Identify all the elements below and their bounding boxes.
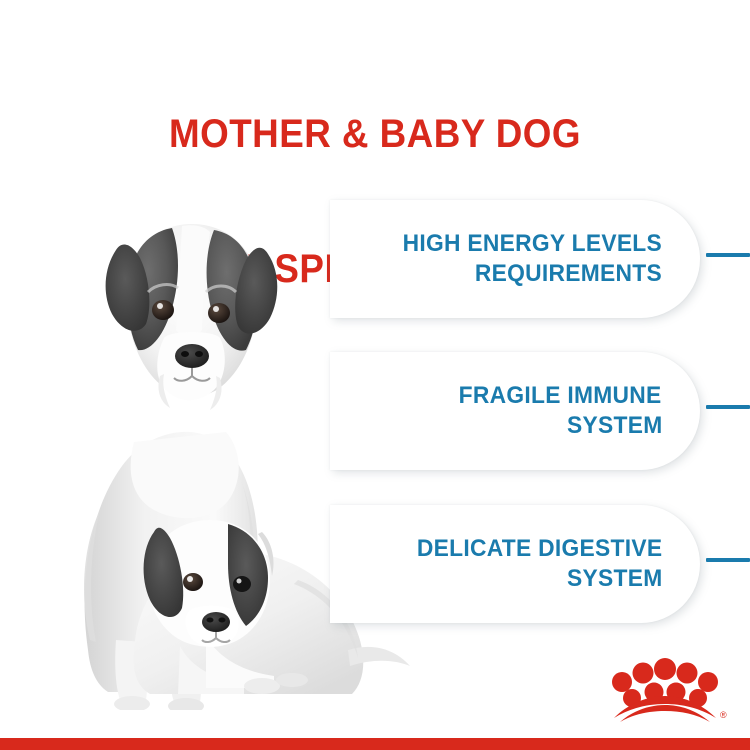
royal-canin-crown-logo: ® bbox=[600, 648, 730, 722]
leader-line-fragile-immune bbox=[706, 405, 750, 409]
registered-mark: ® bbox=[720, 710, 727, 720]
callout-line-2: REQUIREMENTS bbox=[475, 259, 662, 289]
callout-delicate-digestive[interactable]: DELICATE DIGESTIVE SYSTEM bbox=[330, 505, 700, 623]
page-title-line-1: MOTHER & BABY DOG bbox=[30, 112, 720, 157]
callout-line-1: HIGH ENERGY LEVELS bbox=[403, 229, 662, 259]
callout-text: FRAGILE IMMUNE SYSTEM bbox=[370, 352, 662, 470]
leader-line-delicate-digestive bbox=[706, 558, 750, 562]
callout-fragile-immune[interactable]: FRAGILE IMMUNE SYSTEM bbox=[330, 352, 700, 470]
callout-high-energy[interactable]: HIGH ENERGY LEVELS REQUIREMENTS bbox=[330, 200, 700, 318]
callout-text: HIGH ENERGY LEVELS REQUIREMENTS bbox=[370, 200, 662, 318]
callout-text: DELICATE DIGESTIVE SYSTEM bbox=[370, 505, 662, 623]
callout-line-1: DELICATE DIGESTIVE bbox=[417, 534, 662, 564]
product-infographic-page: MOTHER & BABY DOG HAVE SPECIFIC NEEDS bbox=[0, 0, 750, 750]
callout-line-2: SYSTEM bbox=[567, 411, 662, 441]
callout-line-1: FRAGILE IMMUNE bbox=[459, 381, 662, 411]
callout-line-2: SYSTEM bbox=[567, 564, 662, 594]
leader-line-high-energy bbox=[706, 253, 750, 257]
bottom-brand-bar bbox=[0, 738, 750, 750]
